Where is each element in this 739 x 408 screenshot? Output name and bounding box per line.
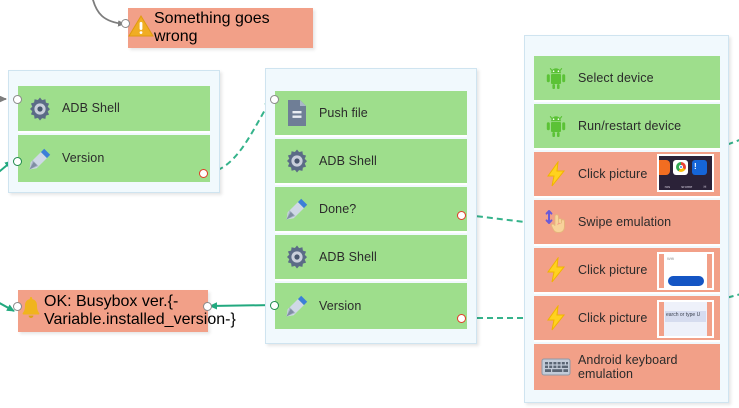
node-adb-shell-left[interactable]: ADB Shell xyxy=(18,86,210,133)
thumb-url-text: earch or type U xyxy=(666,312,700,318)
android-icon xyxy=(534,56,578,100)
port-out-version-left[interactable] xyxy=(199,169,208,178)
lightning-icon xyxy=(534,248,578,292)
port-out-done[interactable] xyxy=(457,211,466,220)
thumbnail-android-home-icons[interactable]: ! ros srome H xyxy=(657,154,714,192)
edge-teal-in-notify xyxy=(0,300,14,311)
thumb-caption: srome xyxy=(681,184,692,189)
node-label: Version xyxy=(319,299,367,313)
node-label: ADB Shell xyxy=(62,101,126,115)
node-select-device[interactable]: Select device xyxy=(534,56,720,102)
node-push-file[interactable]: Push file xyxy=(275,91,467,137)
node-label: Select device xyxy=(578,71,660,85)
lightning-icon xyxy=(534,152,578,196)
node-label: Click picture xyxy=(578,263,653,277)
node-label: ADB Shell xyxy=(319,250,383,264)
pen-icon xyxy=(18,135,62,182)
node-something-goes-wrong[interactable]: Something goes wrong xyxy=(128,8,313,48)
node-label: Click picture xyxy=(578,167,653,181)
gear-icon xyxy=(18,86,62,131)
gear-icon xyxy=(275,139,319,183)
node-label: Click picture xyxy=(578,311,653,325)
android-icon xyxy=(534,104,578,148)
port-in-push-file[interactable] xyxy=(270,95,279,104)
pen-icon xyxy=(275,187,319,231)
thumbnail-browser-url-bar[interactable]: earch or type U xyxy=(657,300,714,338)
port-in-notify[interactable] xyxy=(13,302,22,311)
node-run-restart-device[interactable]: Run/restart device xyxy=(534,104,720,150)
edge-gray-to-error xyxy=(92,0,124,24)
node-label: Swipe emulation xyxy=(578,215,677,229)
thumbnail-dialog-blue-button[interactable]: Wifi xyxy=(657,252,714,290)
lightning-icon xyxy=(534,296,578,340)
port-in-adb-shell-left[interactable] xyxy=(13,95,22,104)
thumb-caption: ros xyxy=(665,184,671,189)
node-ok-busybox-notify[interactable]: OK: Busybox ver.{- Variable.installed_ve… xyxy=(18,290,208,332)
swipe-hand-icon xyxy=(534,200,578,244)
port-in-error-node[interactable] xyxy=(121,19,130,28)
node-label: Done? xyxy=(319,202,362,216)
notify-label-line2: Variable.installed_version-} xyxy=(44,311,236,329)
node-done[interactable]: Done? xyxy=(275,187,467,233)
node-version-middle[interactable]: Version xyxy=(275,283,467,329)
node-android-keyboard-emulation[interactable]: Android keyboard emulation xyxy=(534,344,720,390)
node-swipe-emulation[interactable]: Swipe emulation xyxy=(534,200,720,246)
diagram-canvas[interactable]: Something goes wrong ADB Shell Version xyxy=(0,0,739,408)
node-label: ADB Shell xyxy=(319,154,383,168)
port-in-version-middle[interactable] xyxy=(270,301,279,310)
thumb-caption: H xyxy=(704,184,707,189)
pen-icon xyxy=(275,283,319,329)
gear-icon xyxy=(275,235,319,279)
warning-triangle-icon xyxy=(128,14,154,43)
node-label: Version xyxy=(62,151,110,165)
node-label: Run/restart device xyxy=(578,119,687,133)
file-icon xyxy=(275,91,319,135)
node-label: Android keyboard emulation xyxy=(578,353,720,382)
port-out-notify[interactable] xyxy=(203,302,212,311)
keyboard-icon xyxy=(534,344,578,390)
port-out-version-middle[interactable] xyxy=(457,314,466,323)
bell-icon xyxy=(18,296,44,327)
node-adb-shell-middle-1[interactable]: ADB Shell xyxy=(275,139,467,185)
port-in-version-left[interactable] xyxy=(13,157,22,166)
node-label: Push file xyxy=(319,106,374,120)
node-label: Something goes wrong xyxy=(154,10,313,46)
node-adb-shell-middle-2[interactable]: ADB Shell xyxy=(275,235,467,281)
node-version-left[interactable]: Version xyxy=(18,135,210,182)
